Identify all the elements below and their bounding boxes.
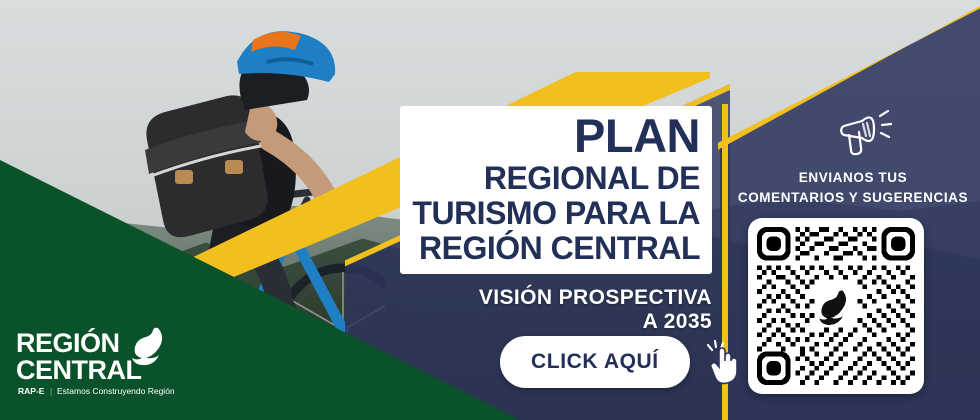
megaphone-icon [832, 108, 894, 162]
logo-tagline: Estamos Construyendo Región [57, 386, 175, 396]
logo-line-2: CENTRAL [16, 355, 142, 385]
right-panel-heading: ENVIANOS TUS COMENTARIOS Y SUGERENCIAS [730, 168, 976, 207]
qr-code-svg [757, 227, 915, 385]
logo-line-1: REGIÓN [16, 327, 120, 358]
title-line-3: TURISMO PARA LA [412, 197, 700, 229]
title-line-1: PLAN [412, 112, 700, 159]
logo-tagline-prefix: RAP-E [18, 386, 45, 396]
right-heading-line-2: COMENTARIOS Y SUGERENCIAS [730, 188, 976, 208]
title-block: PLAN REGIONAL DE TURISMO PARA LA REGIÓN … [352, 106, 712, 334]
subtitle-line-2: A 2035 [352, 310, 712, 334]
title-line-2: REGIONAL DE [412, 162, 700, 194]
pointing-hand-cursor-icon [704, 339, 744, 385]
title-box: PLAN REGIONAL DE TURISMO PARA LA REGIÓN … [400, 106, 712, 274]
title-line-4: REGIÓN CENTRAL [412, 232, 700, 264]
region-central-logo: REGIÓN CENTRAL RAP-E | Estamos Construye… [16, 322, 186, 400]
click-aqui-button[interactable]: CLICK AQUÍ [500, 336, 690, 388]
subtitle-block: VISIÓN PROSPECTIVA A 2035 [352, 286, 712, 334]
logo-tagline-separator: | [50, 386, 52, 396]
hummingbird-logo-mark [132, 328, 162, 365]
promo-banner: PLAN REGIONAL DE TURISMO PARA LA REGIÓN … [0, 0, 980, 420]
right-heading-line-1: ENVIANOS TUS [730, 168, 976, 188]
cta-row: CLICK AQUÍ [500, 336, 744, 388]
subtitle-line-1: VISIÓN PROSPECTIVA [352, 286, 712, 310]
qr-code[interactable] [748, 218, 924, 394]
